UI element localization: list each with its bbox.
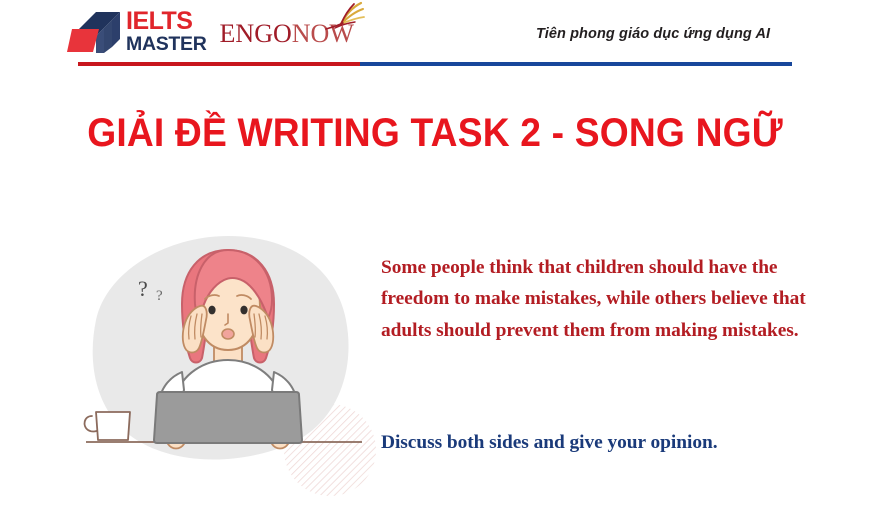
writing-prompt-block: Some people think that children should h… [381, 252, 837, 346]
laptop [154, 392, 302, 443]
folder-layers-icon [66, 9, 124, 55]
ielts-word-top: IELTS [126, 9, 207, 34]
header-divider-red-segment [78, 62, 360, 66]
page-title: GIẢI ĐỀ WRITING TASK 2 - SONG NGỮ [30, 111, 839, 156]
ielts-word-bottom: MASTER [126, 35, 207, 55]
brand-lockup: IELTS MASTER ENGONOW [66, 6, 354, 58]
header-tagline: Tiên phong giáo dục ứng dụng AI [536, 26, 770, 42]
prompt-question-text: Some people think that children should h… [381, 252, 837, 346]
coffee-mug [85, 412, 130, 440]
prompt-instruction-text: Discuss both sides and give your opinion… [381, 427, 841, 458]
eye-left [208, 306, 215, 315]
mouth [222, 329, 234, 339]
slide-header: IELTS MASTER ENGONOW Tiên phong giáo dục… [0, 0, 870, 72]
question-mark-small: ? [156, 288, 163, 304]
mug-body [96, 412, 130, 440]
header-divider-blue-segment [360, 62, 792, 66]
question-mark-large: ? [138, 276, 148, 301]
eye-right [240, 306, 247, 315]
ielts-master-logo: IELTS MASTER [66, 7, 207, 57]
ielts-wordmark: IELTS MASTER [126, 9, 207, 55]
fan-flourish-icon [321, 0, 365, 31]
engonow-word-first: ENGO [220, 19, 292, 48]
engonow-logo: ENGONOW [220, 11, 354, 57]
header-divider [78, 62, 792, 66]
stressed-woman-at-laptop-illustration: ? ? [78, 228, 378, 498]
slide-canvas: IELTS MASTER ENGONOW Tiên phong giáo dục… [0, 0, 870, 520]
